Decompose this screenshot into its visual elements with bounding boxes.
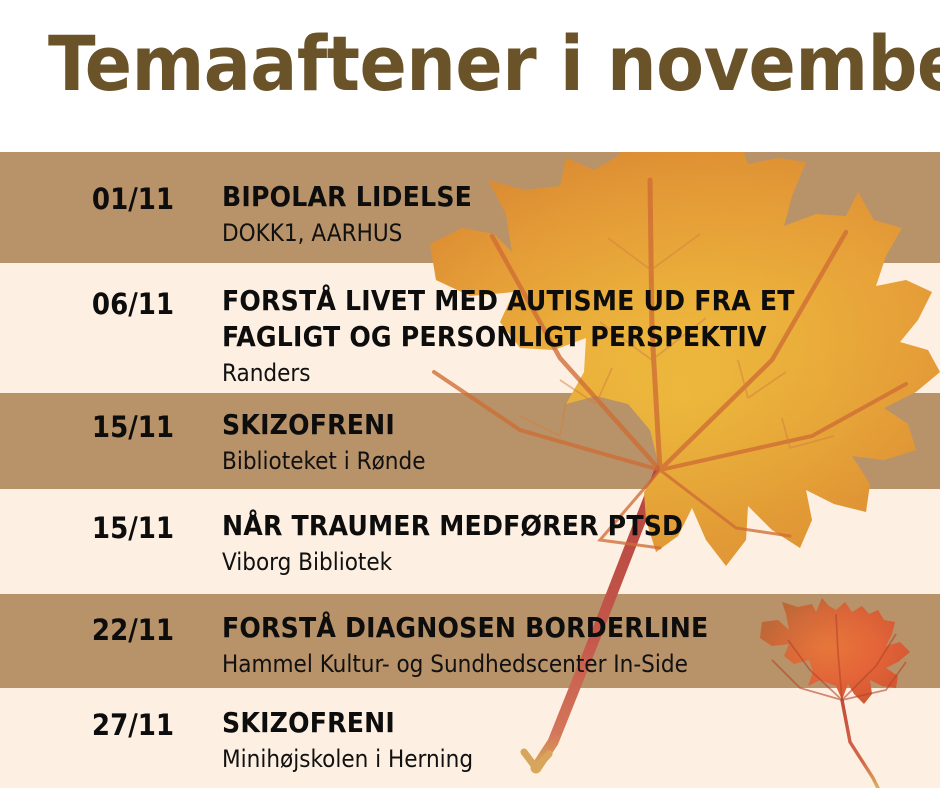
- event-row[interactable]: 15/11NÅR TRAUMER MEDFØRER PTSDViborg Bib…: [0, 489, 940, 594]
- page-title: Temaaftener i november: [48, 26, 925, 102]
- event-body: BIPOLAR LIDELSEDOKK1, AARHUS: [222, 179, 922, 248]
- event-title: FORSTÅ LIVET MED AUTISME UD FRA ET FAGLI…: [222, 283, 922, 355]
- event-title: FORSTÅ DIAGNOSEN BORDERLINE: [222, 610, 922, 646]
- event-body: NÅR TRAUMER MEDFØRER PTSDViborg Bibliote…: [222, 508, 922, 577]
- event-location: Biblioteket i Rønde: [222, 446, 922, 476]
- event-row[interactable]: 15/11SKIZOFRENIBiblioteket i Rønde: [0, 393, 940, 489]
- event-row[interactable]: 01/11BIPOLAR LIDELSEDOKK1, AARHUS: [0, 152, 940, 263]
- event-location: Viborg Bibliotek: [222, 547, 922, 577]
- event-location: Minihøjskolen i Herning: [222, 744, 922, 774]
- event-title: SKIZOFRENI: [222, 407, 922, 443]
- event-date: 15/11: [58, 410, 208, 444]
- event-date: 15/11: [58, 511, 208, 545]
- event-date: 01/11: [58, 182, 208, 216]
- event-title: SKIZOFRENI: [222, 705, 922, 741]
- event-body: FORSTÅ DIAGNOSEN BORDERLINEHammel Kultur…: [222, 610, 922, 679]
- poster-header: Temaaftener i november: [0, 0, 940, 152]
- event-body: SKIZOFRENIMinihøjskolen i Herning: [222, 705, 922, 774]
- event-row[interactable]: 22/11FORSTÅ DIAGNOSEN BORDERLINEHammel K…: [0, 594, 940, 688]
- event-title: NÅR TRAUMER MEDFØRER PTSD: [222, 508, 922, 544]
- event-date: 22/11: [58, 613, 208, 647]
- event-title: BIPOLAR LIDELSE: [222, 179, 922, 215]
- event-body: SKIZOFRENIBiblioteket i Rønde: [222, 407, 922, 476]
- event-row[interactable]: 27/11SKIZOFRENIMinihøjskolen i Herning: [0, 688, 940, 788]
- event-body: FORSTÅ LIVET MED AUTISME UD FRA ET FAGLI…: [222, 283, 922, 388]
- event-date: 06/11: [58, 287, 208, 321]
- event-date: 27/11: [58, 708, 208, 742]
- event-location: Randers: [222, 358, 922, 388]
- event-row[interactable]: 06/11FORSTÅ LIVET MED AUTISME UD FRA ET …: [0, 263, 940, 393]
- poster-canvas: Temaaftener i november 01/11BIPOLAR LIDE…: [0, 0, 940, 788]
- event-location: DOKK1, AARHUS: [222, 218, 922, 248]
- event-location: Hammel Kultur- og Sundhedscenter In-Side: [222, 649, 922, 679]
